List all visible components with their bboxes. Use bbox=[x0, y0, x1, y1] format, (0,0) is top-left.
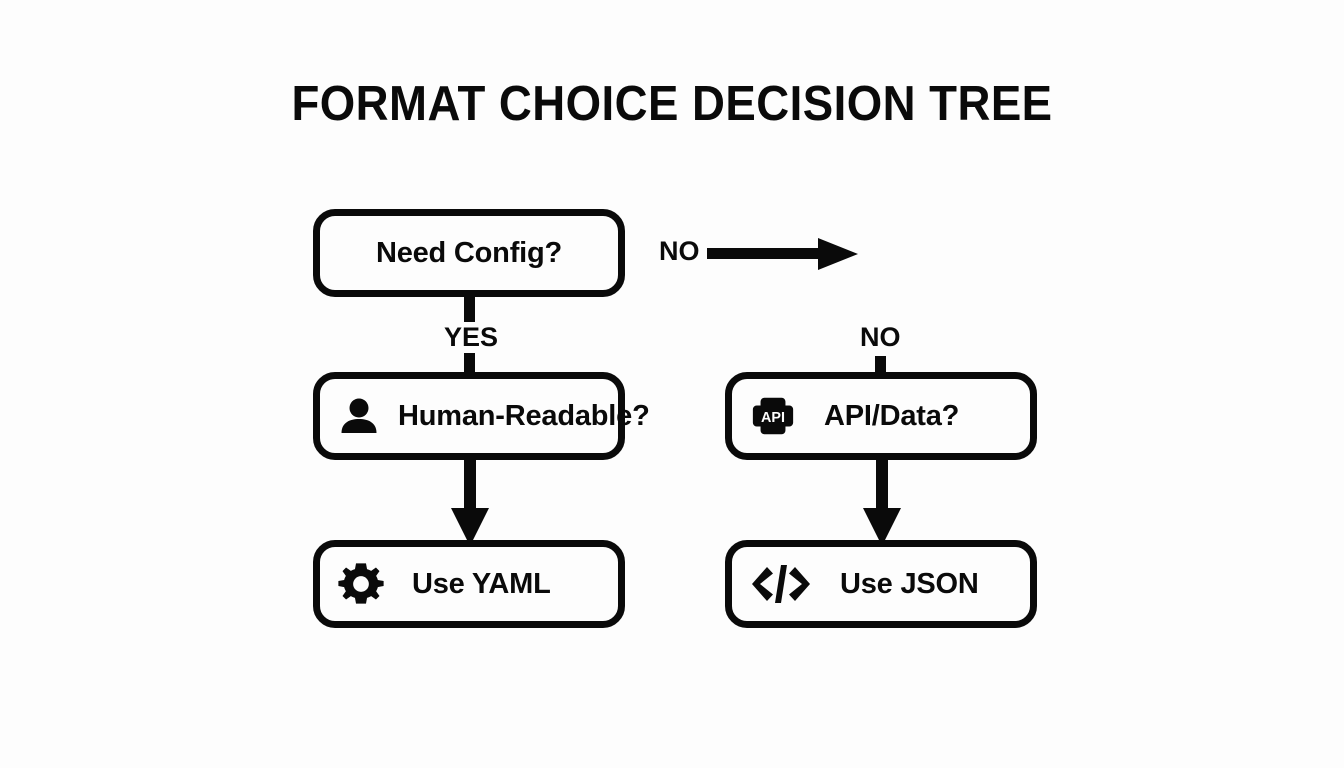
gear-icon bbox=[338, 561, 384, 607]
edge-arrow-api-to-json bbox=[860, 452, 904, 548]
node-human-readable[interactable]: Human-Readable? bbox=[313, 372, 625, 460]
edge-label-no-right: NO bbox=[652, 236, 707, 267]
edge-label-yes: YES bbox=[437, 322, 505, 353]
node-use-json-label: Use JSON bbox=[840, 568, 979, 601]
node-api-data-label: API/Data? bbox=[824, 400, 959, 433]
edge-label-no-into-api: NO bbox=[853, 322, 908, 353]
person-icon bbox=[338, 395, 380, 437]
edge-arrow-human-readable-to-yaml bbox=[448, 452, 492, 548]
node-use-yaml-label: Use YAML bbox=[412, 568, 551, 601]
node-api-data[interactable]: API API/Data? bbox=[725, 372, 1037, 460]
edge-arrow-no-right bbox=[700, 236, 860, 272]
node-use-json[interactable]: Use JSON bbox=[725, 540, 1037, 628]
node-use-yaml[interactable]: Use YAML bbox=[313, 540, 625, 628]
code-brackets-icon bbox=[750, 563, 812, 605]
api-badge-text: API bbox=[761, 410, 785, 426]
api-badge-icon: API bbox=[750, 393, 796, 439]
node-human-readable-label: Human-Readable? bbox=[398, 400, 650, 433]
page-title: FORMAT CHOICE DECISION TREE bbox=[47, 76, 1297, 132]
node-need-config[interactable]: Need Config? bbox=[313, 209, 625, 297]
diagram-canvas: FORMAT CHOICE DECISION TREE YES NO NO Ne… bbox=[0, 0, 1344, 768]
node-need-config-label: Need Config? bbox=[376, 237, 562, 270]
